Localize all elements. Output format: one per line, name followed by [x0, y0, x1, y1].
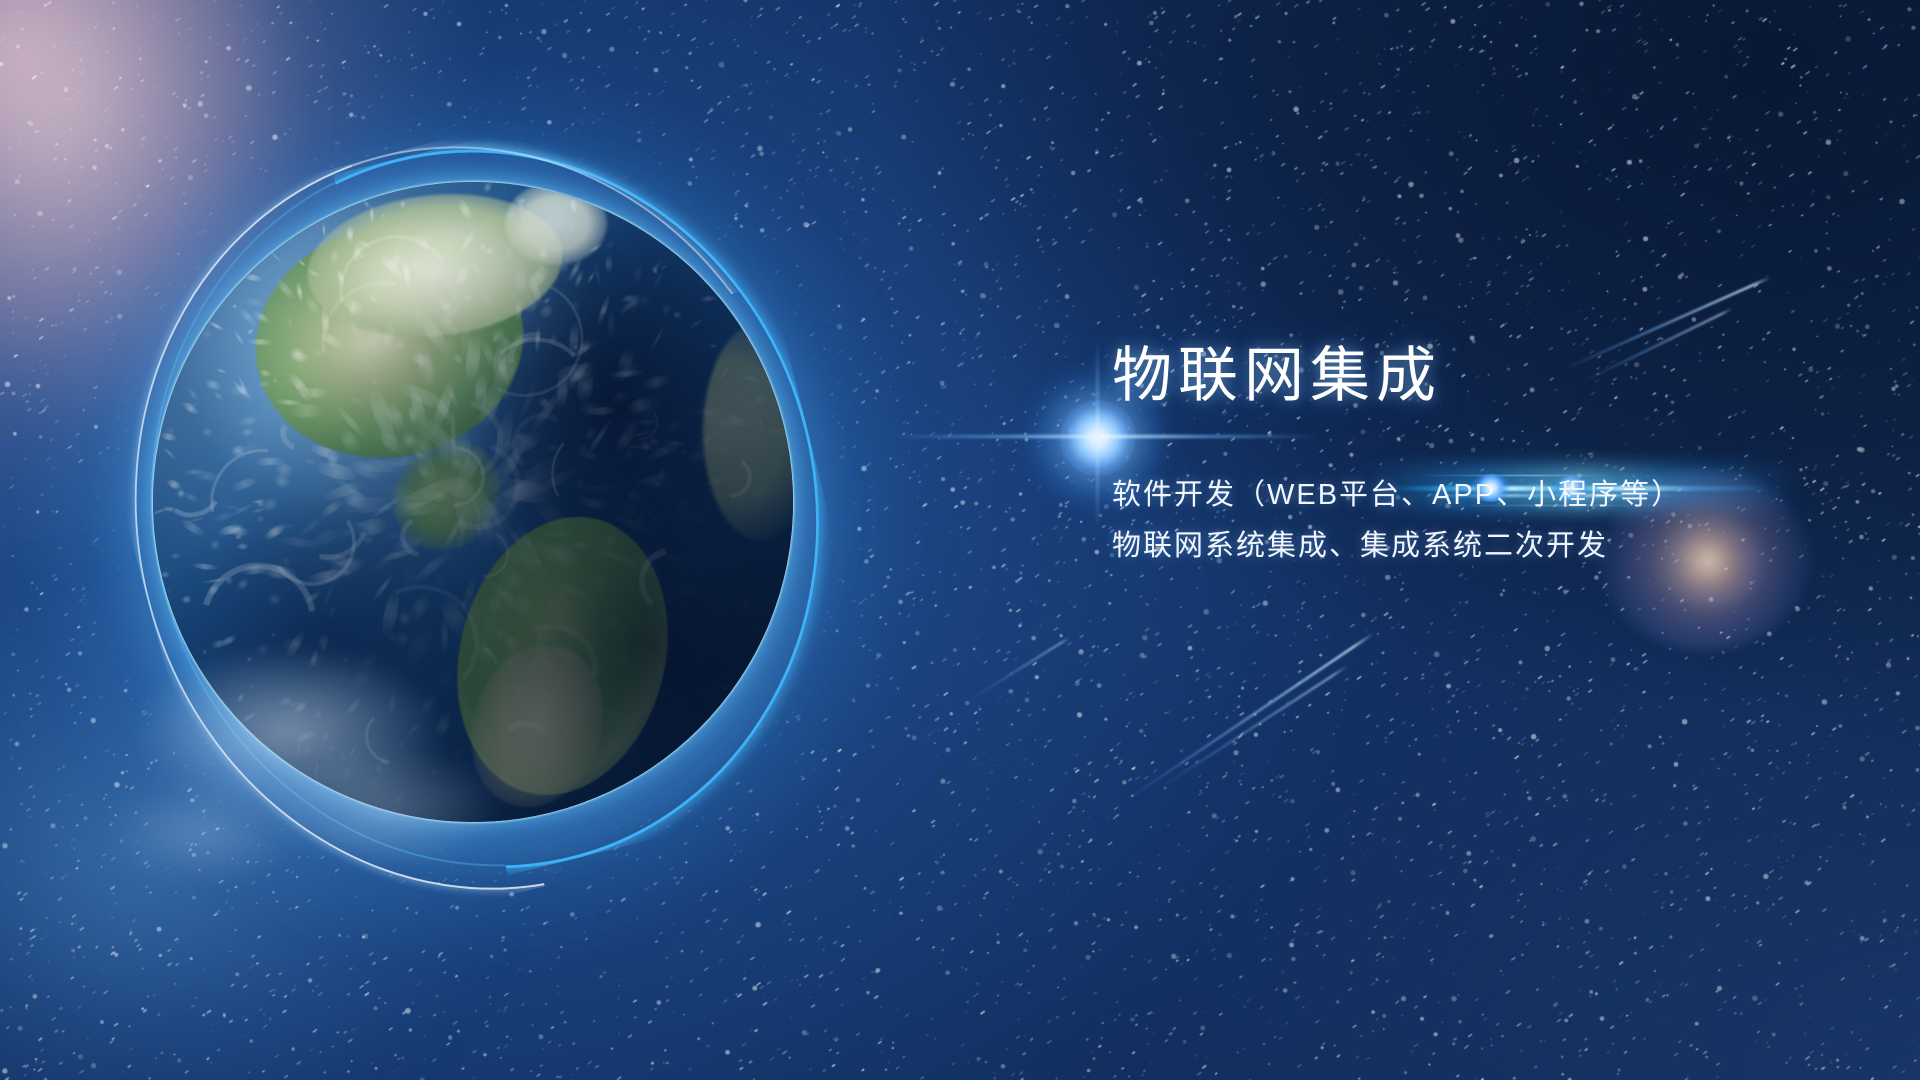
globe-mist-reflection	[60, 600, 580, 930]
hero-subtitle-2: 物联网系统集成、集成系统二次开发	[1112, 523, 1852, 570]
hero-text-block: 物联网集成 软件开发（WEB平台、APP、小程序等） 物联网系统集成、集成系统二…	[1112, 346, 1852, 570]
page-title: 物联网集成	[1112, 346, 1852, 406]
hero-banner: 物联网集成 软件开发（WEB平台、APP、小程序等） 物联网系统集成、集成系统二…	[0, 0, 1920, 1080]
hero-subtitle-1: 软件开发（WEB平台、APP、小程序等）	[1112, 472, 1852, 519]
